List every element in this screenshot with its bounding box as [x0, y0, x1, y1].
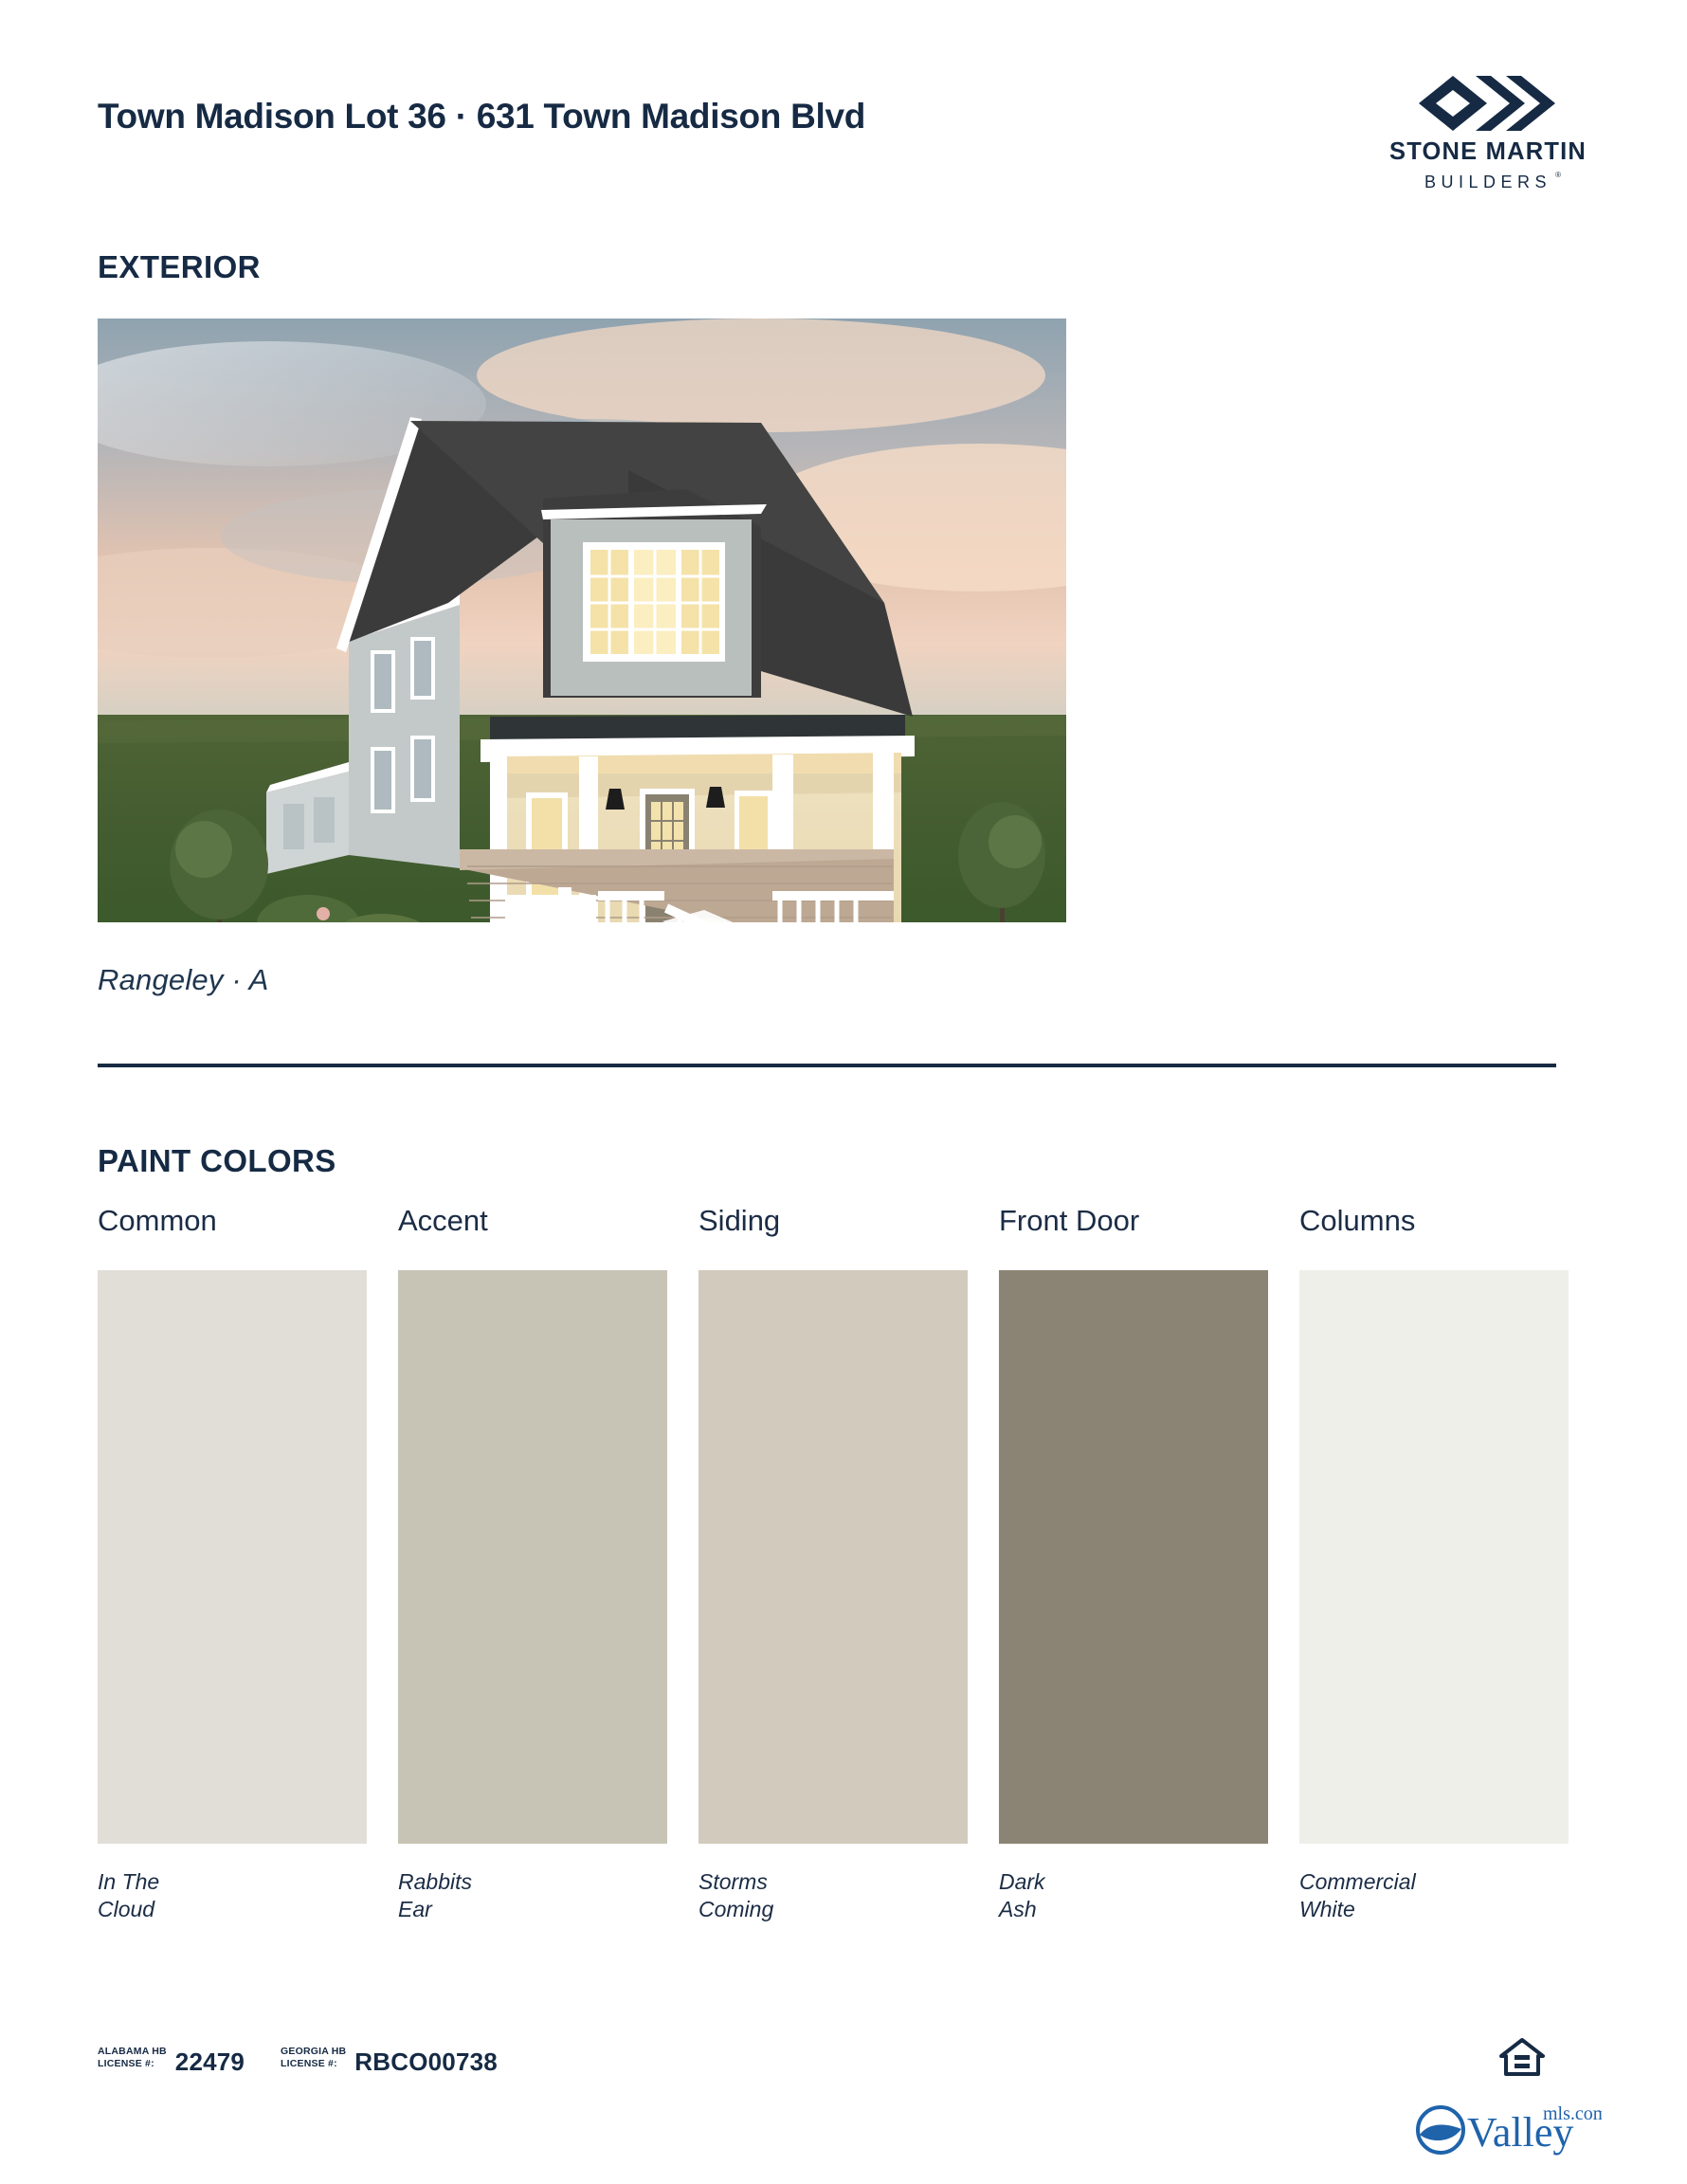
paint-swatch-columns: Columns Commercial White — [1299, 1206, 1569, 1924]
paint-swatch-front-door: Front Door Dark Ash — [999, 1206, 1268, 1924]
paint-swatch-label: Columns — [1299, 1206, 1569, 1247]
logo-company-subname: BUILDERS® — [1424, 173, 1551, 191]
paint-swatch-chip — [1299, 1270, 1569, 1844]
paint-swatch-label: Front Door — [999, 1206, 1268, 1247]
paint-swatch-name: Dark Ash — [999, 1868, 1268, 1924]
floorplan-caption: Rangeley · A — [98, 963, 268, 997]
stone-martin-builders-logo: STONE MARTIN BUILDERS® — [1374, 74, 1602, 192]
paint-swatch-name: Commercial White — [1299, 1868, 1569, 1924]
logo-company-name: STONE MARTIN — [1374, 140, 1602, 165]
paint-colors-section-heading: PAINT COLORS — [98, 1143, 336, 1179]
paint-swatch-row: Common In The Cloud Accent Rabbits Ear S… — [98, 1206, 1562, 1936]
valley-mls-circle-icon — [1418, 2107, 1463, 2153]
paint-swatch-label: Common — [98, 1206, 367, 1247]
license-number: RBCO00738 — [354, 2049, 498, 2074]
paint-swatch-chip — [398, 1270, 667, 1844]
paint-swatch-common: Common In The Cloud — [98, 1206, 367, 1924]
valley-mls-logo: Valley mls.com — [1412, 2101, 1602, 2159]
license-number: 22479 — [175, 2049, 245, 2074]
paint-swatch-name: Rabbits Ear — [398, 1868, 667, 1924]
paint-swatch-name: Storms Coming — [698, 1868, 968, 1924]
license-caption: GEORGIA HB LICENSE #: — [281, 2046, 346, 2074]
paint-swatch-chip — [698, 1270, 968, 1844]
paint-swatch-chip — [98, 1270, 367, 1844]
valley-mls-suffix: mls.com — [1543, 2103, 1602, 2124]
page-header: Town Madison Lot 36 · 631 Town Madison B… — [98, 74, 1602, 197]
paint-swatch-chip — [999, 1270, 1268, 1844]
document-page: Town Madison Lot 36 · 631 Town Madison B… — [0, 0, 1687, 2184]
registered-trademark-mark: ® — [1555, 172, 1561, 179]
paint-swatch-name: In The Cloud — [98, 1868, 367, 1924]
paint-swatch-label: Siding — [698, 1206, 968, 1247]
paint-swatch-accent: Accent Rabbits Ear — [398, 1206, 667, 1924]
paint-swatch-label: Accent — [398, 1206, 667, 1247]
stone-martin-diamond-chevrons-icon — [1417, 74, 1559, 133]
house-rendering-illustration — [98, 318, 1066, 922]
logo-subname-text: BUILDERS — [1424, 173, 1551, 191]
equal-housing-opportunity-icon — [1499, 2036, 1545, 2078]
exterior-rendering-image — [98, 318, 1066, 922]
exterior-section-heading: EXTERIOR — [98, 249, 261, 285]
page-title: Town Madison Lot 36 · 631 Town Madison B… — [98, 97, 865, 136]
section-divider — [98, 1064, 1556, 1067]
paint-swatch-siding: Siding Storms Coming — [698, 1206, 968, 1924]
license-georgia: GEORGIA HB LICENSE #: RBCO00738 — [281, 2046, 498, 2074]
license-alabama: ALABAMA HB LICENSE #: 22479 — [98, 2046, 245, 2074]
license-caption: ALABAMA HB LICENSE #: — [98, 2046, 167, 2074]
page-footer: ALABAMA HB LICENSE #: 22479 GEORGIA HB L… — [98, 2046, 1602, 2184]
